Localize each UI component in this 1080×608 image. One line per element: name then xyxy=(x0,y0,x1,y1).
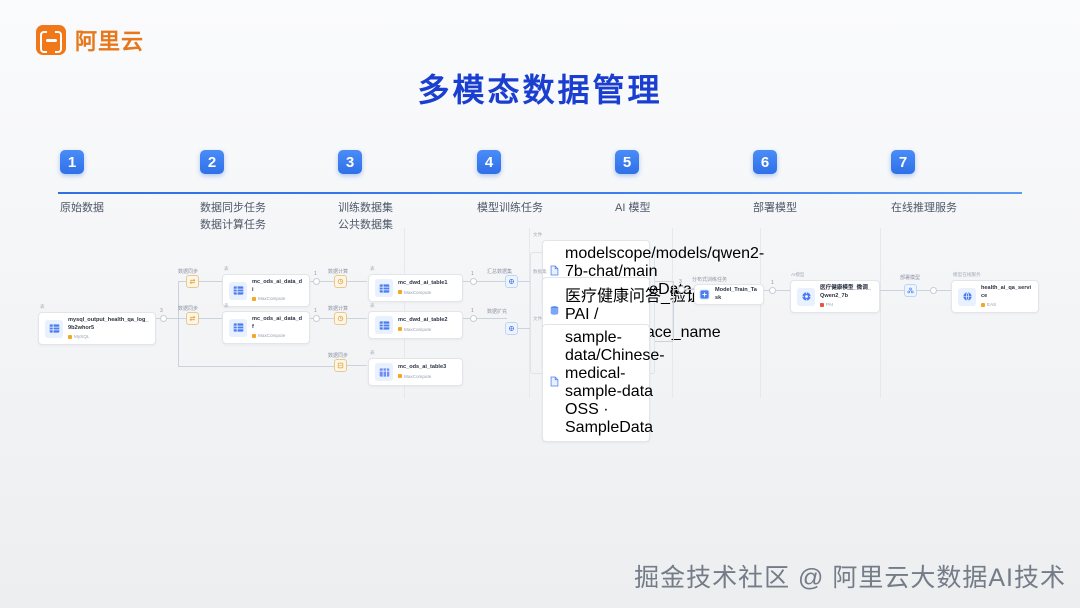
node-dataset-merge[interactable] xyxy=(505,275,518,288)
step-4: 4 模型训练任务 xyxy=(477,150,543,217)
edge-count: 3 xyxy=(160,308,163,314)
step-labels: AI 模型 xyxy=(615,200,650,217)
node-sublabel: PAI xyxy=(820,301,873,308)
dataset-icon xyxy=(549,303,560,321)
file-icon xyxy=(549,374,560,392)
node-label: 医疗健康模型_微调_Qwen2_7b xyxy=(820,285,873,300)
step-number-badge: 4 xyxy=(477,150,501,174)
node-dwd-table-2[interactable]: mc_dwd_ai_table2 MaxCompute xyxy=(368,311,463,339)
node-online-service[interactable]: health_ai_qa_service EAS xyxy=(951,280,1039,313)
node-label: Model_Train_Task xyxy=(715,287,759,302)
compute-label-2: 数据计算 xyxy=(328,305,348,312)
step-number-badge: 7 xyxy=(891,150,915,174)
node-sync-task-1[interactable] xyxy=(186,275,199,288)
table-icon xyxy=(229,282,247,300)
node-ai-model[interactable]: 医疗健康模型_微调_Qwen2_7b PAI xyxy=(790,280,880,313)
step-number-badge: 5 xyxy=(615,150,639,174)
node-label: mc_ods_ai_data_df xyxy=(252,316,303,331)
step-number-badge: 3 xyxy=(338,150,362,174)
step-labels: 部署模型 xyxy=(753,200,797,217)
card-dataset-3[interactable]: sample-data/Chinese-medical-sample-data … xyxy=(542,324,650,442)
step-5: 5 AI 模型 xyxy=(615,150,650,217)
dataset-edge-label-1: 汇总数据集 xyxy=(487,268,512,275)
alibaba-cloud-logo-icon xyxy=(36,25,66,55)
dwd-tag-1: 表 xyxy=(370,266,375,272)
edge-count: 1 xyxy=(314,308,317,314)
node-label: mysql_output_health_qa_log_9b2whor5 xyxy=(68,317,149,332)
node-source-table[interactable]: mysql_output_health_qa_log_9b2whor5 MySQ… xyxy=(38,312,156,345)
step-labels: 模型训练任务 xyxy=(477,200,543,217)
step-label: 部署模型 xyxy=(753,200,797,217)
node-train-task[interactable]: Model_Train_Task xyxy=(694,284,764,305)
model-icon xyxy=(797,288,815,306)
brand-logo: 阿里云 xyxy=(36,24,144,56)
step-1: 1 原始数据 xyxy=(60,150,104,217)
dataset-tag-1: 文件 xyxy=(533,232,542,238)
dataset-edge-label-2: 数据扩充 xyxy=(487,308,507,315)
step-label: 数据同步任务 xyxy=(200,200,266,217)
step-timeline: 1 原始数据 2 数据同步任务 数据计算任务 3 训练数据集 公共数据集 4 模… xyxy=(0,150,1080,230)
compute-label-3: 数据同步 xyxy=(328,352,348,359)
node-sublabel: EAS xyxy=(981,301,1032,308)
edge-count: 3 xyxy=(679,279,682,285)
node-label: mc_dwd_ai_table1 xyxy=(398,280,447,288)
step-label: 在线推理服务 xyxy=(891,200,957,217)
step-6: 6 部署模型 xyxy=(753,150,797,217)
node-label: health_ai_qa_service xyxy=(981,285,1032,300)
node-deploy-model[interactable] xyxy=(904,284,917,297)
lineage-canvas[interactable]: 表 mysql_output_health_qa_log_9b2whor5 My… xyxy=(0,228,1080,398)
service-icon xyxy=(958,288,976,306)
step-number-badge: 1 xyxy=(60,150,84,174)
node-sublabel: MaxCompute xyxy=(252,332,303,339)
page-title: 多模态数据管理 xyxy=(0,65,1080,111)
model-tag: AI模型 xyxy=(791,272,805,278)
node-sublabel: MaxCompute xyxy=(252,295,303,302)
ods-tag-1: 表 xyxy=(224,266,229,272)
service-tag: 模型在线服务 xyxy=(953,272,981,278)
card-label: modelscope/models/qwen2-7b-chat/main xyxy=(565,245,764,281)
sync-label-1: 数据同步 xyxy=(178,268,198,275)
step-7: 7 在线推理服务 xyxy=(891,150,957,217)
watermark-text: 掘金技术社区 @ 阿里云大数据AI技术 xyxy=(634,558,1066,594)
node-sublabel: MaxCompute xyxy=(398,289,447,296)
node-sublabel: MaxCompute xyxy=(398,373,446,380)
step-label: AI 模型 xyxy=(615,200,650,217)
train-task-icon xyxy=(699,289,710,300)
node-sublabel: MySQL xyxy=(68,333,149,340)
step-number-badge: 2 xyxy=(200,150,224,174)
table-icon xyxy=(375,363,393,381)
edge-count: 1 xyxy=(471,271,474,277)
node-compute-task-2[interactable] xyxy=(334,312,347,325)
node-sync-task-2[interactable] xyxy=(186,312,199,325)
node-sublabel: MaxCompute xyxy=(398,326,447,333)
node-label: mc_ods_ai_table3 xyxy=(398,364,446,372)
compute-label-1: 数据计算 xyxy=(328,268,348,275)
source-tag: 表 xyxy=(40,304,45,310)
step-label: 模型训练任务 xyxy=(477,200,543,217)
edge-count: 1 xyxy=(471,308,474,314)
table-icon xyxy=(229,319,247,337)
slide-root: 阿里云 多模态数据管理 1 原始数据 2 数据同步任务 数据计算任务 3 训练数… xyxy=(0,0,1080,608)
step-labels: 在线推理服务 xyxy=(891,200,957,217)
table-icon xyxy=(375,279,393,297)
node-dwd-table-3[interactable]: mc_ods_ai_table3 MaxCompute xyxy=(368,358,463,386)
edge-count: 1 xyxy=(771,280,774,286)
card-label: sample-data/Chinese-medical-sample-data xyxy=(565,329,665,401)
card-sublabel: OSS · SampleData xyxy=(565,401,665,437)
ods-tag-2: 表 xyxy=(224,303,229,309)
step-labels: 原始数据 xyxy=(60,200,104,217)
sync-label-2: 数据同步 xyxy=(178,305,198,312)
node-dataset-augment[interactable] xyxy=(505,322,518,335)
node-ods-table-2[interactable]: mc_ods_ai_data_df MaxCompute xyxy=(222,311,310,344)
dataset-tag-3: 文件 xyxy=(533,316,542,322)
step-number-badge: 6 xyxy=(753,150,777,174)
node-dwd-table-1[interactable]: mc_dwd_ai_table1 MaxCompute xyxy=(368,274,463,302)
step-label: 训练数据集 xyxy=(338,200,393,217)
table-icon xyxy=(45,320,63,338)
node-label: mc_dwd_ai_table2 xyxy=(398,317,447,325)
deploy-tag: 部署模型 xyxy=(900,274,920,281)
node-compute-task-1[interactable] xyxy=(334,275,347,288)
step-label: 原始数据 xyxy=(60,200,104,217)
train-task-tag: 分布式训练任务 xyxy=(692,276,727,283)
dataset-tag-2: 数据集 xyxy=(533,269,547,275)
dwd-tag-3: 表 xyxy=(370,350,375,356)
node-label: mc_ods_ai_data_di xyxy=(252,279,303,294)
table-icon xyxy=(375,316,393,334)
edge-count: 1 xyxy=(314,271,317,277)
node-compute-task-3[interactable] xyxy=(334,359,347,372)
step-3: 3 训练数据集 公共数据集 xyxy=(338,150,393,234)
brand-name: 阿里云 xyxy=(75,24,144,56)
node-ods-table-1[interactable]: mc_ods_ai_data_di MaxCompute xyxy=(222,274,310,307)
step-2: 2 数据同步任务 数据计算任务 xyxy=(200,150,266,234)
dwd-tag-2: 表 xyxy=(370,303,375,309)
